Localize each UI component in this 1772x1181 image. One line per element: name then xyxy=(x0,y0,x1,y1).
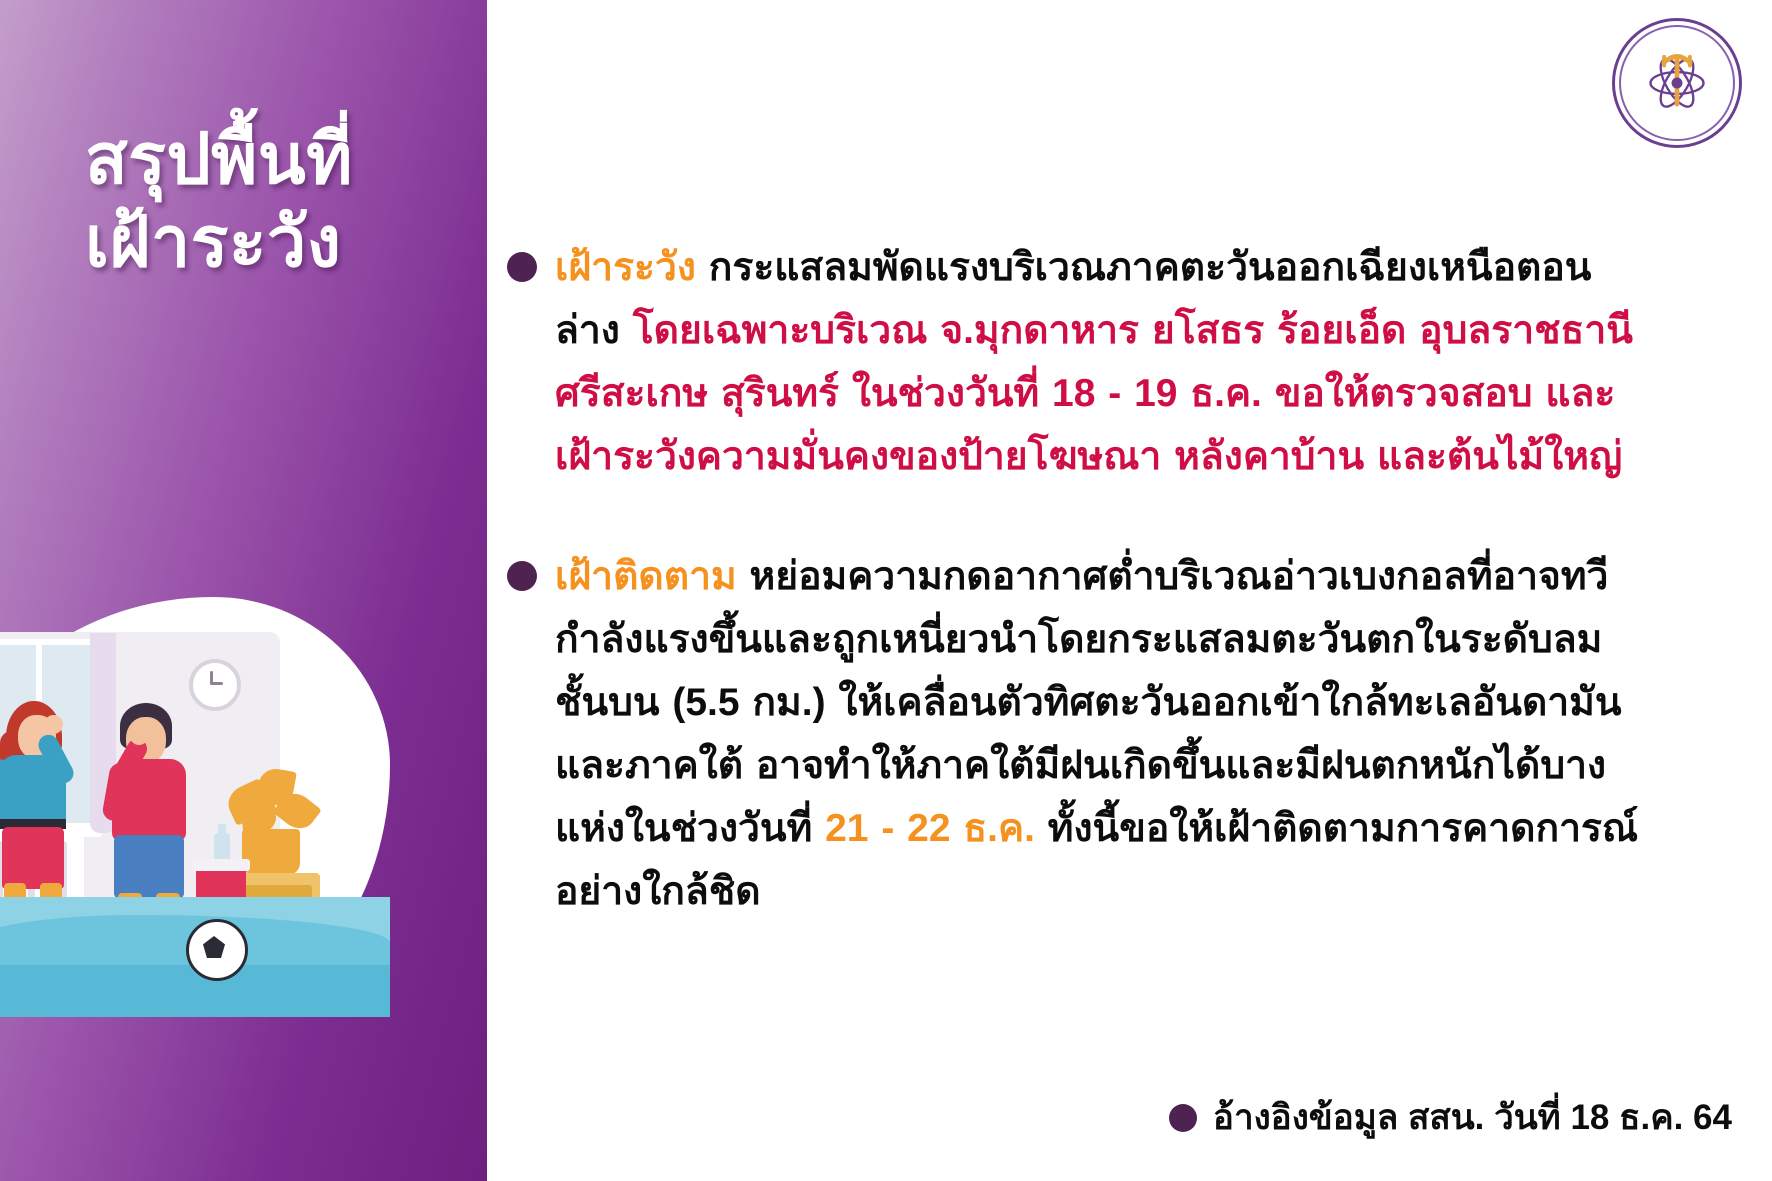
source-text: อ้างอิงข้อมูล สสน. วันที่ 18 ธ.ค. 64 xyxy=(1213,1090,1732,1145)
bullet-item-monitor: เฝ้าติดตาม หย่อมความกดอากาศต่ำบริเวณอ่าว… xyxy=(507,545,1655,923)
bullet-dot-icon xyxy=(507,252,537,282)
man-pants xyxy=(114,835,184,899)
bullet-dot-icon xyxy=(507,561,537,591)
bullet-monitor-text: เฝ้าติดตาม หย่อมความกดอากาศต่ำบริเวณอ่าว… xyxy=(555,545,1655,923)
football-icon xyxy=(186,919,248,981)
page-title-line-1: สรุปพื้นที่ xyxy=(85,118,465,201)
bullet-monitor-date: 21 - 22 ธ.ค. xyxy=(825,807,1035,850)
bullet-monitor-body: หย่อมความกดอากาศต่ำบริเวณอ่าวเบงกอลที่อา… xyxy=(555,555,1622,850)
woman-hand xyxy=(44,715,63,734)
plant-pot xyxy=(242,829,300,875)
page-title-line-2: เฝ้าระวัง xyxy=(85,201,465,284)
flood-illustration xyxy=(0,597,390,1017)
storage-box-lid xyxy=(192,859,250,871)
bullet-dot-icon xyxy=(1169,1104,1197,1132)
clock-icon xyxy=(189,659,241,711)
bullet-watch-text: เฝ้าระวัง กระแสลมพัดแรงบริเวณภาคตะวันออก… xyxy=(555,236,1655,488)
man-hand xyxy=(130,727,148,745)
woman-pants xyxy=(2,827,64,889)
bullet-watch-label: เฝ้าระวัง xyxy=(555,246,696,289)
bullet-monitor-label: เฝ้าติดตาม xyxy=(555,555,737,598)
source-attribution: อ้างอิงข้อมูล สสน. วันที่ 18 ธ.ค. 64 xyxy=(487,1090,1732,1145)
page-title: สรุปพื้นที่ เฝ้าระวัง xyxy=(85,118,465,283)
bullet-watch-detail: โดยเฉพาะบริเวณ จ.มุกดาหาร ยโสธร ร้อยเอ็ด… xyxy=(555,309,1633,478)
content-area: เฝ้าระวัง กระแสลมพัดแรงบริเวณภาคตะวันออก… xyxy=(487,0,1772,1181)
bullet-item-watch: เฝ้าระวัง กระแสลมพัดแรงบริเวณภาคตะวันออก… xyxy=(507,236,1655,488)
left-purple-panel: สรุปพื้นที่ เฝ้าระวัง xyxy=(0,0,487,1181)
